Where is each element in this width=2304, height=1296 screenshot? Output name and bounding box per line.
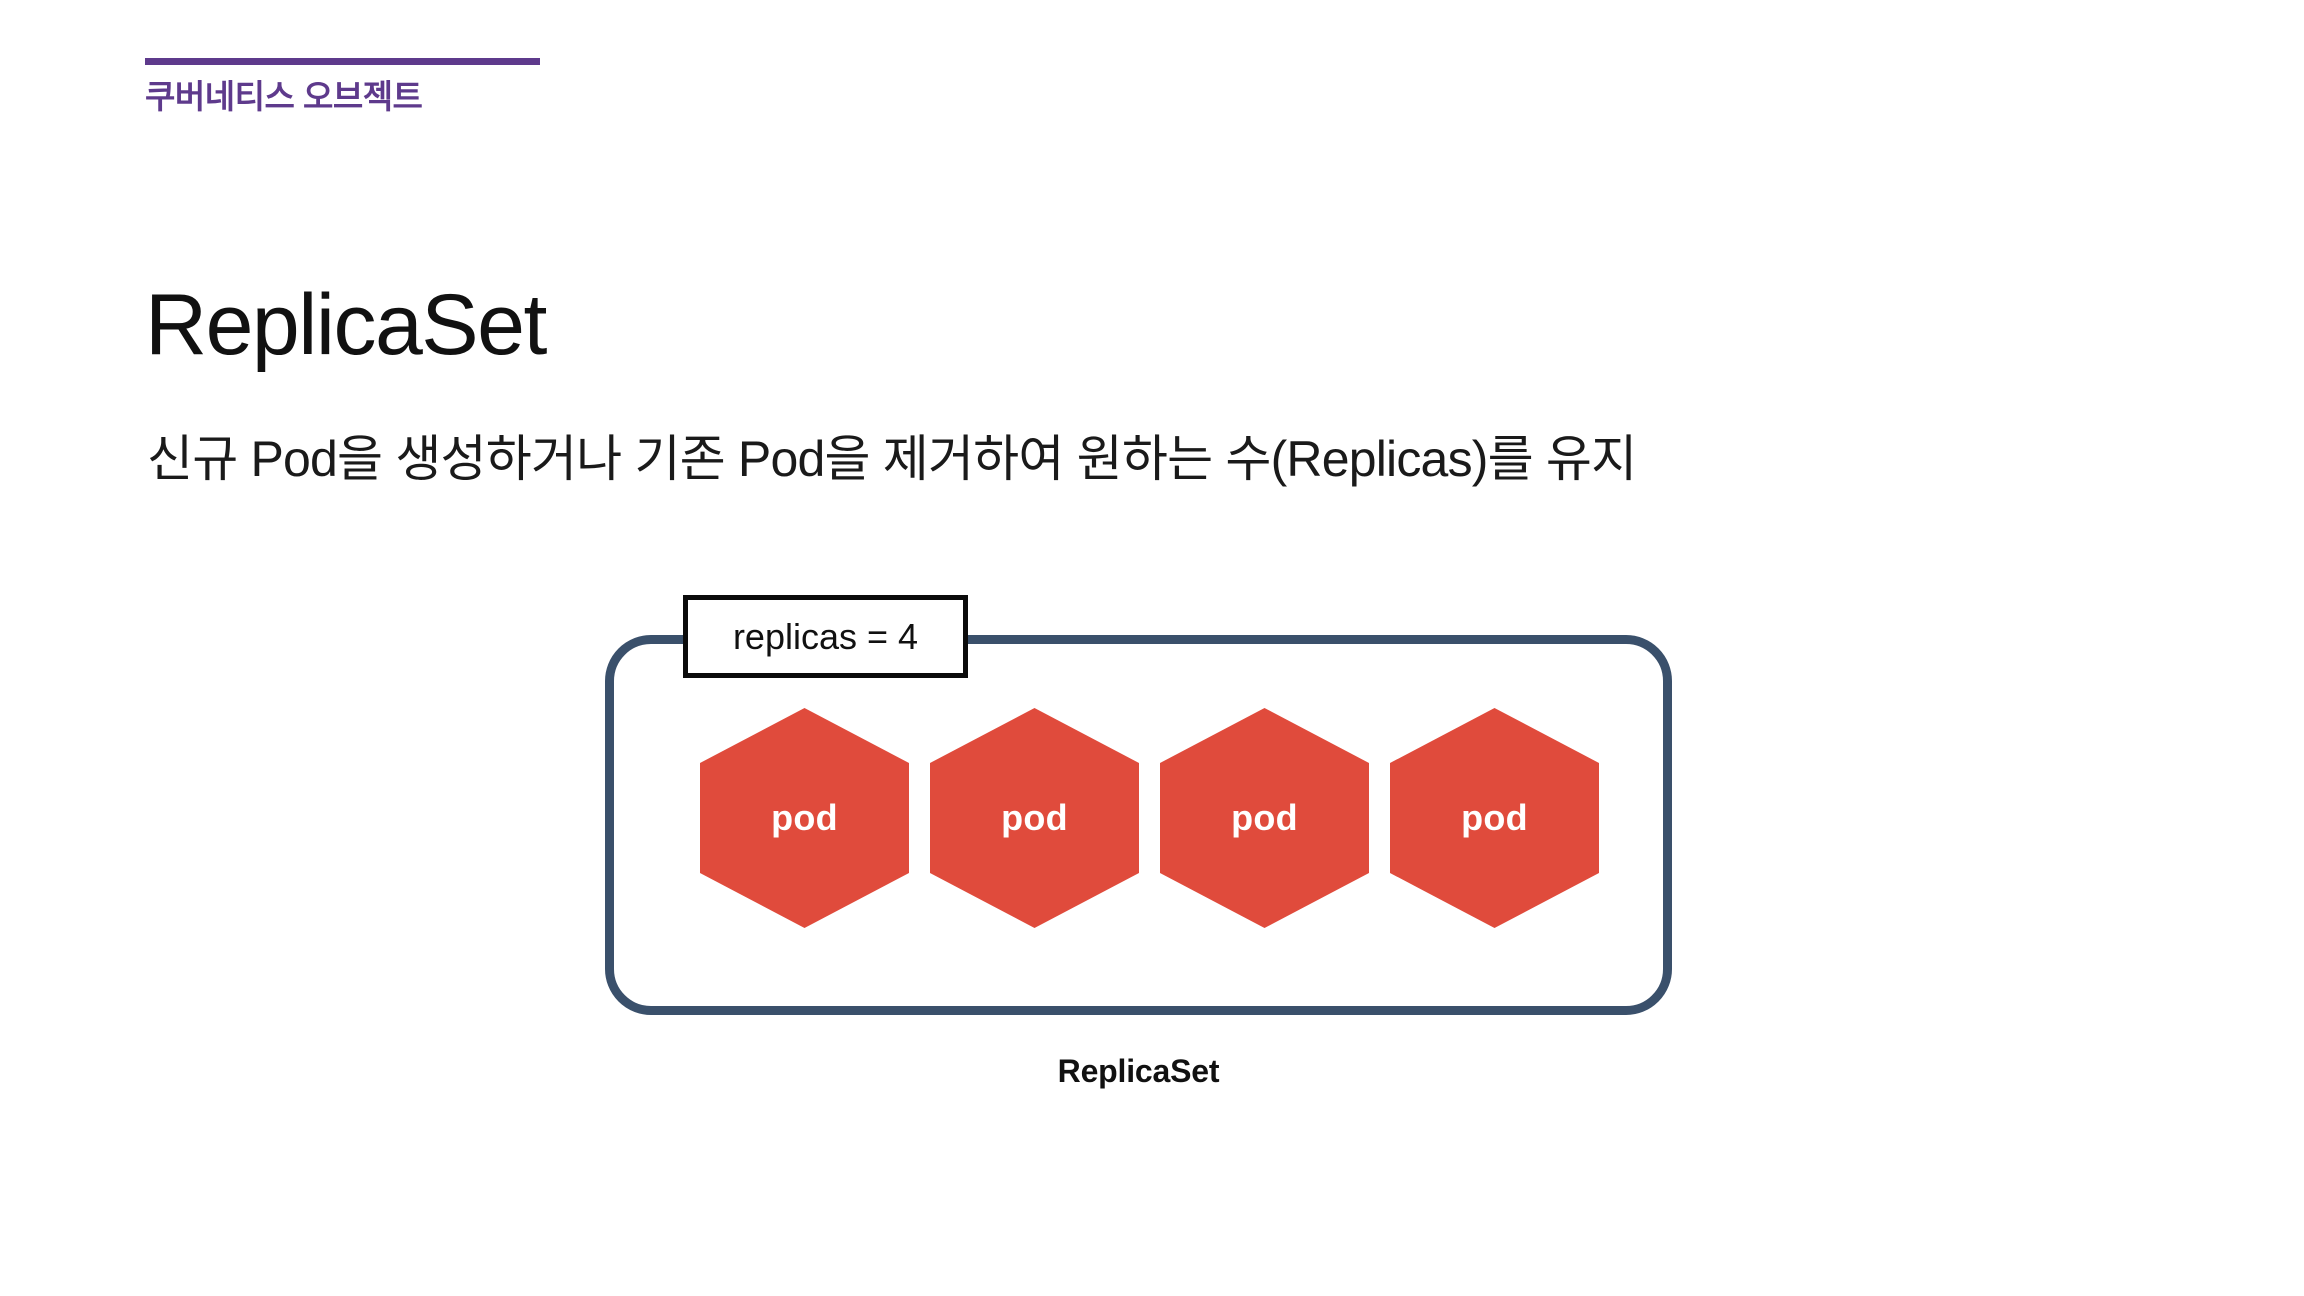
pod-label: pod (930, 800, 1139, 836)
slide-root: 쿠버네티스 오브젝트 ReplicaSet 신규 Pod을 생성하거나 기존 P… (0, 0, 2304, 1296)
hexagon-icon (700, 708, 909, 928)
page-subtitle: 신규 Pod을 생성하거나 기존 Pod을 제거하여 원하는 수(Replica… (147, 428, 1636, 491)
pod-hexagon: pod (1160, 708, 1369, 928)
pod-label: pod (700, 800, 909, 836)
diagram-caption: ReplicaSet (605, 1052, 1672, 1090)
hexagon-icon (930, 708, 1139, 928)
pod-hexagon: pod (930, 708, 1139, 928)
pod-hexagon: pod (700, 708, 909, 928)
replicas-badge-label: replicas = 4 (733, 619, 918, 655)
eyebrow-label: 쿠버네티스 오브젝트 (145, 79, 565, 115)
replicaset-diagram: replicas = 4 pod pod pod (0, 0, 2304, 1296)
eyebrow-block: 쿠버네티스 오브젝트 (145, 58, 565, 115)
pod-label: pod (1160, 800, 1369, 836)
hexagon-icon (1390, 708, 1599, 928)
pod-hexagon: pod (1390, 708, 1599, 928)
replicas-badge: replicas = 4 (683, 595, 968, 678)
pod-label: pod (1390, 800, 1599, 836)
pod-list: pod pod pod pod (700, 708, 1620, 928)
page-title: ReplicaSet (145, 280, 546, 370)
replicaset-container (605, 635, 1672, 1015)
eyebrow-rule (145, 58, 540, 65)
hexagon-icon (1160, 708, 1369, 928)
